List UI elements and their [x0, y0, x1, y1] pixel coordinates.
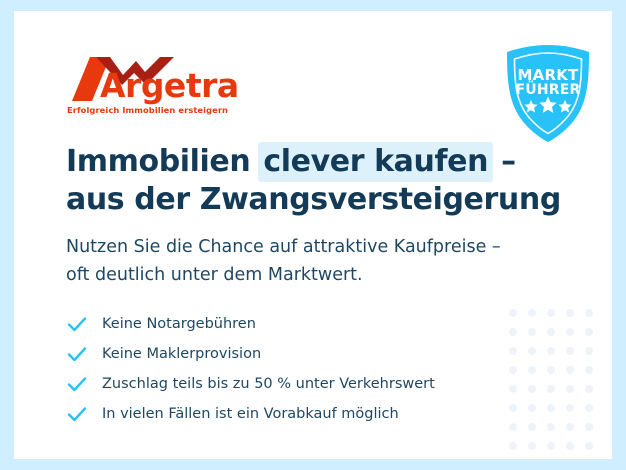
promo-card: Argetra Erfolgreich Immobilien ersteiger… [14, 11, 612, 459]
check-icon [66, 343, 88, 365]
headline-highlight: clever kaufen [258, 142, 493, 182]
subheadline-line-1: Nutzen Sie die Chance auf attraktive Kau… [66, 233, 586, 261]
list-item-label: Zuschlag teils bis zu 50 % unter Verkehr… [102, 377, 435, 392]
dot [585, 328, 593, 336]
dot [547, 423, 555, 431]
list-item-label: Keine Notargebühren [102, 317, 256, 332]
headline-line-2: aus der Zwangsversteigerung [66, 181, 586, 219]
dot [585, 404, 593, 412]
list-item: Zuschlag teils bis zu 50 % unter Verkehr… [66, 369, 536, 399]
dot [547, 328, 555, 336]
subheadline: Nutzen Sie die Chance auf attraktive Kau… [66, 233, 586, 289]
dot [509, 442, 517, 450]
dot [585, 366, 593, 374]
list-item-label: In vielen Fällen ist ein Vorabkauf mögli… [102, 407, 399, 422]
dot [566, 328, 574, 336]
dot [528, 442, 536, 450]
badge-line-2: FÜHRER [503, 82, 593, 98]
dot [547, 347, 555, 355]
headline-line-1: Immobilien clever kaufen – [66, 143, 586, 181]
headline-text-after: – [491, 144, 516, 179]
benefits-list: Keine NotargebührenKeine Maklerprovision… [66, 309, 536, 429]
headline: Immobilien clever kaufen – aus der Zwang… [66, 143, 586, 219]
logo-tagline: Erfolgreich Immobilien ersteigern [67, 105, 228, 115]
subheadline-line-2: oft deutlich unter dem Marktwert. [66, 261, 586, 289]
check-icon [66, 403, 88, 425]
dot [585, 423, 593, 431]
dot [547, 366, 555, 374]
dot [547, 385, 555, 393]
promo-banner: Argetra Erfolgreich Immobilien ersteiger… [0, 0, 626, 470]
list-item: In vielen Fällen ist ein Vorabkauf mögli… [66, 399, 536, 429]
dot [566, 423, 574, 431]
market-leader-badge: MARKT FÜHRER [503, 44, 593, 144]
list-item: Keine Notargebühren [66, 309, 536, 339]
dot [585, 442, 593, 450]
check-icon [66, 373, 88, 395]
dot [547, 442, 555, 450]
list-item: Keine Maklerprovision [66, 339, 536, 369]
dot [585, 347, 593, 355]
logo-wordmark: Argetra [100, 69, 239, 102]
list-item-label: Keine Maklerprovision [102, 347, 261, 362]
dot [566, 347, 574, 355]
dot [566, 366, 574, 374]
check-icon [66, 313, 88, 335]
dot [585, 309, 593, 317]
dot [566, 309, 574, 317]
dot [547, 404, 555, 412]
dot [566, 404, 574, 412]
dot [547, 309, 555, 317]
argetra-logo[interactable]: Argetra Erfolgreich Immobilien ersteiger… [66, 55, 266, 125]
dot [566, 442, 574, 450]
dot [585, 385, 593, 393]
headline-text-before: Immobilien [66, 144, 260, 179]
dot [566, 385, 574, 393]
